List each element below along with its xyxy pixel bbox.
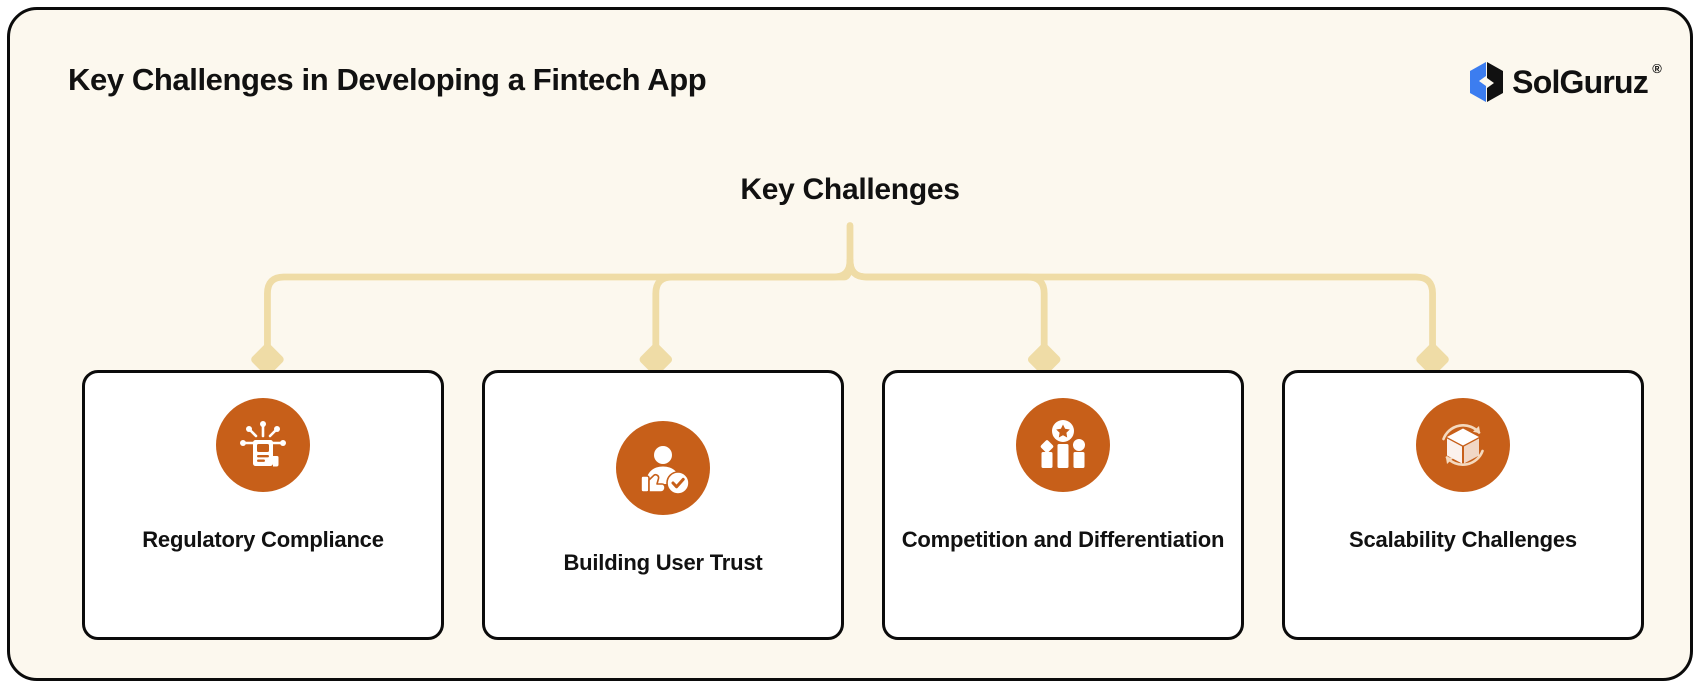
cards-row: Regulatory Compliance Building User Trus…	[10, 10, 1690, 678]
regulatory-document-broadcast-icon	[216, 398, 310, 492]
cube-refresh-scale-icon	[1416, 398, 1510, 492]
infographic-frame: Key Challenges in Developing a Fintech A…	[7, 7, 1693, 681]
card-label: Scalability Challenges	[1301, 525, 1625, 554]
card-regulatory-compliance[interactable]: Regulatory Compliance	[82, 370, 444, 640]
user-thumbs-up-verified-icon	[616, 421, 710, 515]
card-competition-differentiation[interactable]: Competition and Differentiation	[882, 370, 1244, 640]
card-scalability-challenges[interactable]: Scalability Challenges	[1282, 370, 1644, 640]
card-label: Regulatory Compliance	[101, 525, 425, 554]
podium-star-ranking-icon	[1016, 398, 1110, 492]
card-label: Competition and Differentiation	[901, 525, 1225, 554]
card-label: Building User Trust	[501, 548, 825, 577]
card-building-user-trust[interactable]: Building User Trust	[482, 370, 844, 640]
